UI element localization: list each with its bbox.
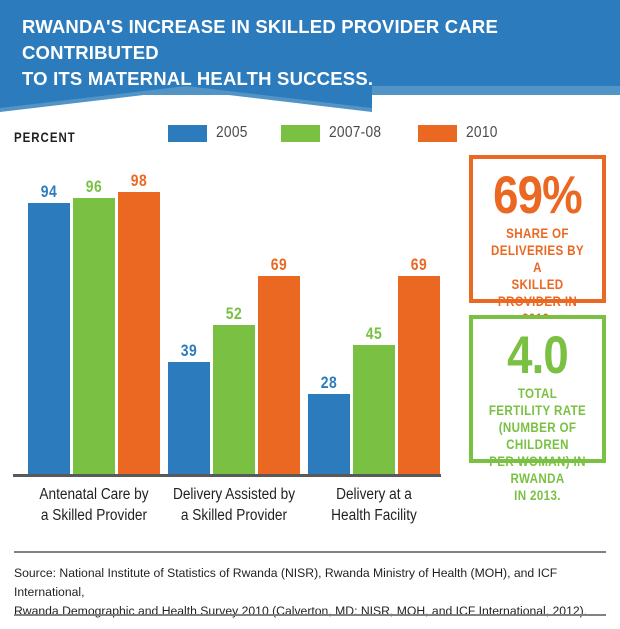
bar-delivery-facility-2007-08: 45: [353, 160, 395, 475]
bar-antenatal-2005: 94: [28, 160, 70, 475]
bar-rect-delivery-facility-2007-08: [353, 345, 395, 475]
x-axis-line: [13, 474, 441, 477]
page-title: RWANDA'S INCREASE IN SKILLED PROVIDER CA…: [22, 14, 598, 92]
footer-divider-bottom: [14, 614, 606, 616]
bar-rect-delivery-facility-2010: [398, 276, 440, 475]
footer-divider-top: [14, 551, 606, 553]
callout-value-total-fertility-rate: 4.0: [487, 329, 588, 382]
callout-caption-total-fertility-rate: TOTAL FERTILITY RATE (NUMBER OF CHILDREN…: [487, 385, 588, 504]
legend-label-2005: 2005: [216, 124, 248, 142]
bar-value-delivery-assisted-2010: 69: [271, 255, 287, 274]
bar-group-delivery-assisted: 39 52 69: [168, 160, 300, 475]
header-banner: RWANDA'S INCREASE IN SKILLED PROVIDER CA…: [0, 0, 620, 86]
x-axis-label-delivery-assisted: Delivery Assisted by a Skilled Provider: [157, 484, 312, 526]
y-axis-unit-label: PERCENT: [14, 129, 76, 145]
bar-delivery-facility-2005: 28: [308, 160, 350, 475]
chart-legend: 2005 2007-08 2010: [168, 124, 502, 142]
bar-value-delivery-facility-2007-08: 45: [366, 324, 382, 343]
bar-group-delivery-facility: 28 45 69: [308, 160, 440, 475]
bar-value-antenatal-2010: 98: [131, 171, 147, 190]
bar-value-delivery-assisted-2005: 39: [181, 341, 197, 360]
legend-label-2010: 2010: [466, 124, 498, 142]
bar-delivery-facility-2010: 69: [398, 160, 440, 475]
legend-swatch-2010: [418, 125, 457, 142]
source-note: Source: National Institute of Statistics…: [14, 564, 610, 621]
bar-rect-antenatal-2007-08: [73, 198, 115, 475]
bar-value-delivery-assisted-2007-08: 52: [226, 304, 242, 323]
legend-item-2005: 2005: [168, 124, 253, 142]
bar-antenatal-2007-08: 96: [73, 160, 115, 475]
callout-box-total-fertility-rate: 4.0 TOTAL FERTILITY RATE (NUMBER OF CHIL…: [469, 315, 606, 463]
x-axis-label-delivery-facility: Delivery at a Health Facility: [297, 484, 452, 526]
legend-swatch-2005: [168, 125, 207, 142]
bar-rect-delivery-assisted-2010: [258, 276, 300, 475]
bar-delivery-assisted-2007-08: 52: [213, 160, 255, 475]
bar-delivery-assisted-2005: 39: [168, 160, 210, 475]
bar-delivery-assisted-2010: 69: [258, 160, 300, 475]
bar-rect-delivery-assisted-2007-08: [213, 325, 255, 475]
bar-antenatal-2010: 98: [118, 160, 160, 475]
legend-item-2010: 2010: [418, 124, 503, 142]
bar-group-antenatal-care: 94 96 98: [28, 160, 160, 475]
bar-rect-antenatal-2010: [118, 192, 160, 475]
plot-area: 94 96 98 39 52: [13, 160, 441, 475]
callout-caption-skilled-provider-share: SHARE OF DELIVERIES BY A SKILLED PROVIDE…: [487, 225, 588, 327]
callout-value-skilled-provider-share: 69%: [487, 169, 588, 222]
legend-swatch-2007-08: [281, 125, 320, 142]
bar-value-antenatal-2007-08: 96: [86, 177, 102, 196]
bar-value-antenatal-2005: 94: [41, 182, 57, 201]
legend-label-2007-08: 2007-08: [329, 124, 381, 142]
chart-panel: PERCENT 2005 2007-08 2010 94: [0, 112, 452, 542]
bar-rect-delivery-facility-2005: [308, 394, 350, 475]
bar-value-delivery-facility-2005: 28: [321, 373, 337, 392]
x-axis-label-antenatal-care: Antenatal Care by a Skilled Provider: [17, 484, 172, 526]
legend-item-2007-08: 2007-08: [281, 124, 390, 142]
infographic-root: RWANDA'S INCREASE IN SKILLED PROVIDER CA…: [0, 0, 620, 629]
x-axis-labels: Antenatal Care by a Skilled Provider Del…: [13, 484, 441, 542]
bar-value-delivery-facility-2010: 69: [411, 255, 427, 274]
callout-box-skilled-provider-share: 69% SHARE OF DELIVERIES BY A SKILLED PRO…: [469, 155, 606, 303]
bar-rect-antenatal-2005: [28, 203, 70, 475]
bar-rect-delivery-assisted-2005: [168, 362, 210, 475]
